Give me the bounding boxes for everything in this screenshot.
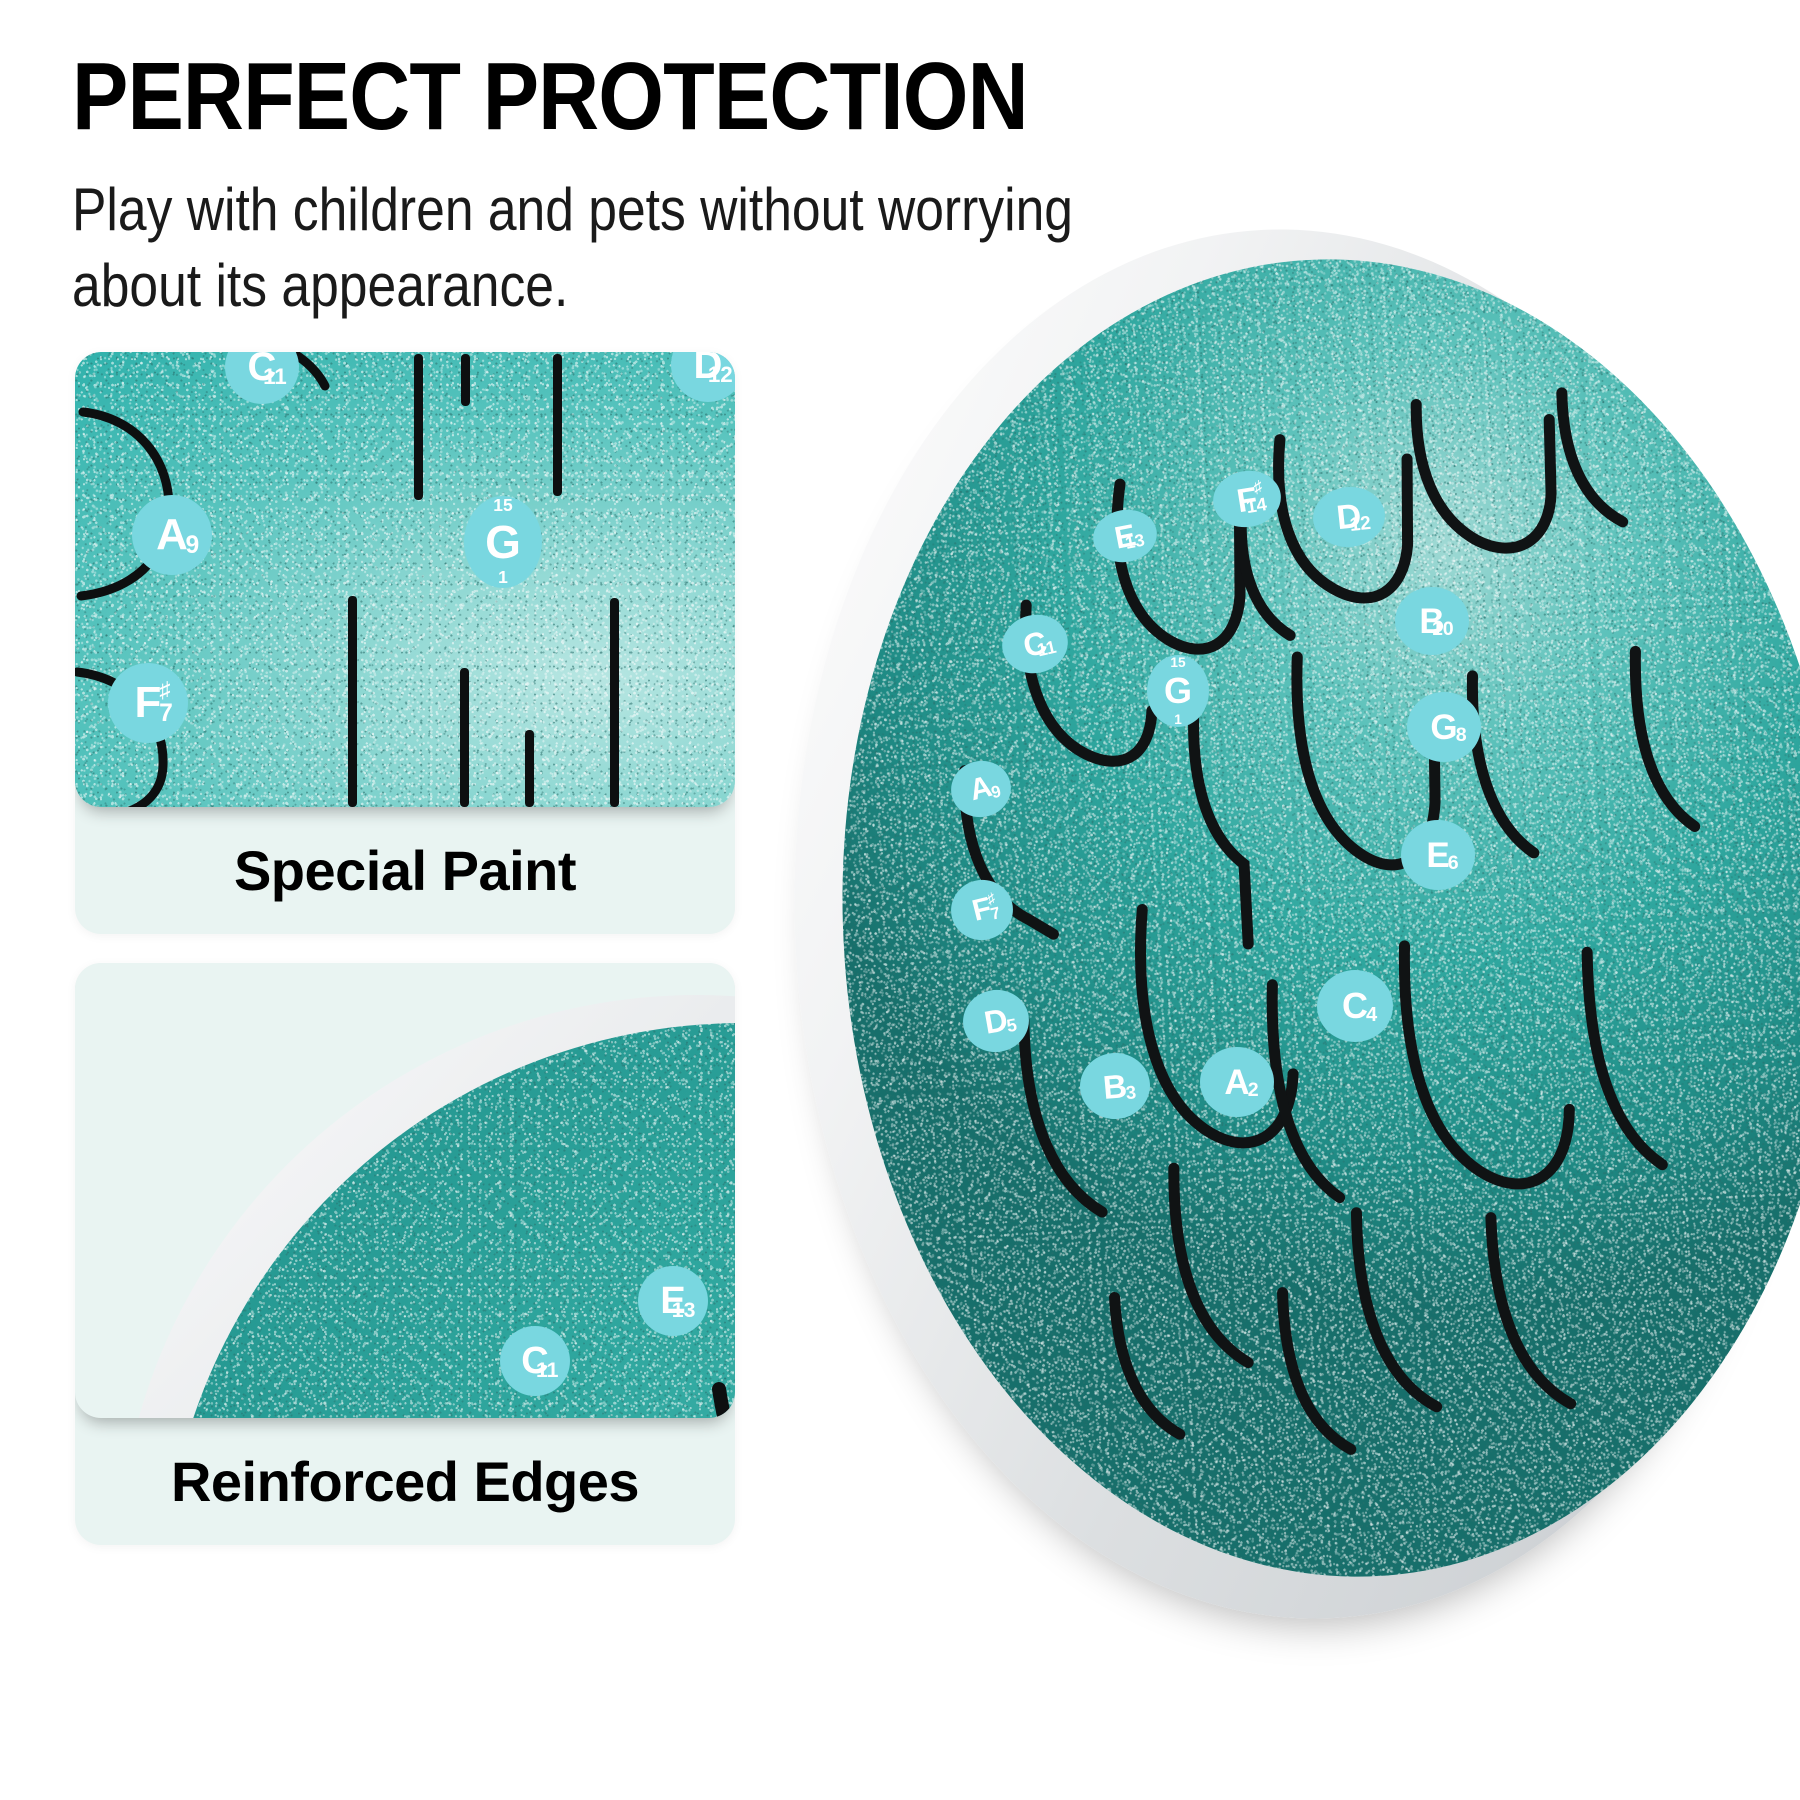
tongue-slit [348, 596, 357, 807]
tongue-slit [461, 354, 470, 406]
note-marker-c4: C4 [1317, 970, 1393, 1042]
drum-surface [163, 1023, 735, 1418]
drum-body: F ♯ 14 E13 D12 C11 B10 15 G 1 [795, 215, 1800, 1635]
tongue-cut-lines [163, 1023, 735, 1418]
note-marker-g8: G8 [1407, 692, 1481, 762]
note-marker-fsharp7: F ♯ 7 [108, 663, 188, 743]
page-title: PERFECT PROTECTION [72, 48, 1110, 146]
note-marker-b10: B10 [1395, 587, 1469, 655]
special-paint-photo: C11 D12 A9 15 G 1 F ♯ 7 [75, 352, 735, 807]
feature-card-special-paint: C11 D12 A9 15 G 1 F ♯ 7 Special Pai [75, 352, 735, 934]
tongue-slit [414, 354, 423, 500]
infographic-canvas: PERFECT PROTECTION Play with children an… [0, 0, 1800, 1800]
tongue-outline-group [75, 352, 735, 807]
note-marker-g15-1: 15 G 1 [1147, 655, 1209, 727]
note-marker-e13: E13 [638, 1266, 708, 1336]
tongue-slit [553, 354, 562, 496]
feature-card-reinforced-edges: E13 C11 Reinforced Edges [75, 963, 735, 1545]
tongue-slit [460, 668, 469, 807]
main-product-photo: F ♯ 14 E13 D12 C11 B10 15 G 1 [795, 215, 1800, 1635]
tongue-slit [525, 730, 534, 807]
special-paint-caption: Special Paint [75, 807, 735, 934]
note-marker-c11: C11 [500, 1326, 570, 1396]
tongue-slit [610, 598, 619, 807]
reinforced-edges-caption: Reinforced Edges [75, 1418, 735, 1545]
note-marker-g15-1: 15 G 1 [464, 496, 542, 588]
note-marker-e6: E6 [1401, 820, 1475, 890]
note-marker-a2: A2 [1200, 1047, 1274, 1117]
note-marker-a9: A9 [132, 495, 212, 575]
reinforced-edges-photo: E13 C11 [75, 963, 735, 1418]
